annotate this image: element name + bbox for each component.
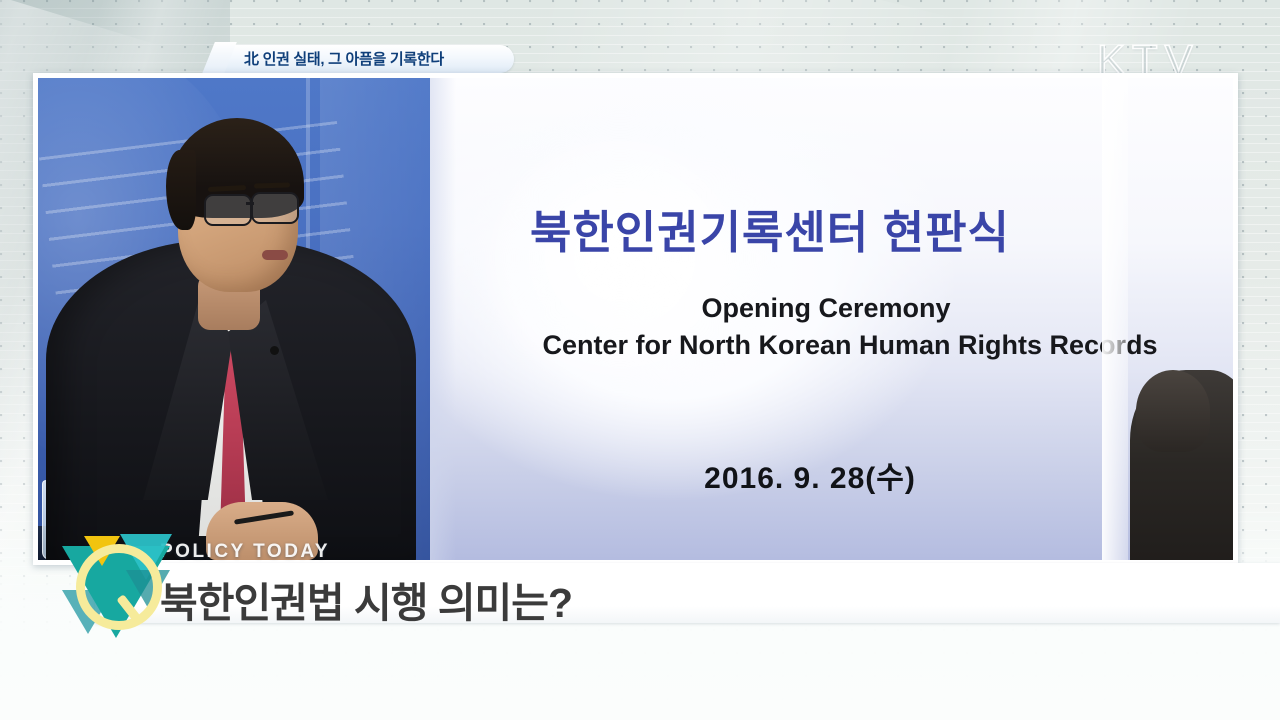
guest-hair-side [166, 150, 196, 230]
studio-guest-panel: POL [38, 78, 430, 560]
video-frame: POL [33, 73, 1238, 565]
lower-third: 북한인권법 시행 의미는? [0, 563, 1280, 625]
top-headline-ribbon: 北 인권 실태, 그 아픔을 기록한다 [222, 45, 514, 73]
presentation-slide: 북한인권기록센터 현판식 Opening Ceremony Center for… [430, 78, 1233, 560]
guest-eyeglasses-bridge [246, 202, 254, 205]
lapel-microphone-icon [270, 346, 279, 355]
attendee-hair [1136, 370, 1210, 452]
slide-edge-divider [1102, 78, 1128, 560]
badge-letter-ring [76, 544, 162, 630]
guest-eyeglasses-right [251, 192, 299, 224]
top-headline-text: 北 인권 실태, 그 아픔을 기록한다 [244, 48, 444, 69]
guest-mouth [262, 250, 288, 260]
video-inner: POL [38, 78, 1233, 560]
broadcast-screen: KTV 北 인권 실태, 그 아픔을 기록한다 POL [0, 0, 1280, 720]
q-badge-icon: Q [62, 528, 170, 638]
guest-eyeglasses-left [204, 194, 252, 226]
lower-third-title: 북한인권법 시행 의미는? [160, 569, 572, 629]
slide-date: 2016. 9. 28(수) [430, 453, 1190, 497]
program-name-label: POLICY TODAY [160, 541, 330, 563]
